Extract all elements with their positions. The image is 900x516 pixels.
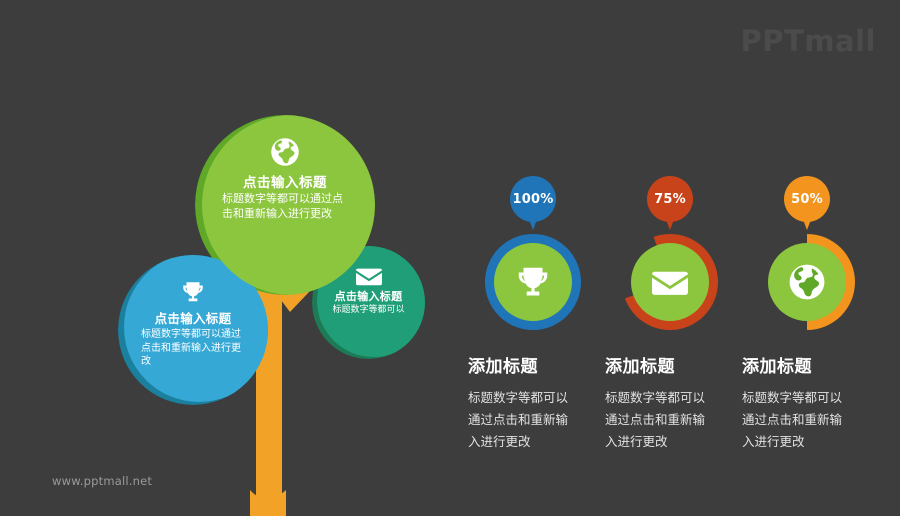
bubble-title: 点击输入标题 xyxy=(335,288,403,304)
icon-disc xyxy=(494,243,572,321)
stat-body: 标题数字等都可以通过点击和重新输入进行更改 xyxy=(605,387,717,453)
stat-column-3: 50% 添加标题 标题数字等都可以通过点击和重新输入进行更改 xyxy=(742,176,872,453)
mail-icon xyxy=(652,269,688,295)
progress-ring-wrap xyxy=(622,234,718,330)
percent-label: 100% xyxy=(510,176,556,222)
globe-icon xyxy=(270,137,300,167)
icon-disc xyxy=(768,243,846,321)
stat-title: 添加标题 xyxy=(742,352,872,377)
trophy-icon xyxy=(514,263,552,301)
tree-bubble-teal[interactable]: 点击输入标题 标题数字等都可以 xyxy=(312,246,425,359)
stat-body: 标题数字等都可以通过点击和重新输入进行更改 xyxy=(468,387,580,453)
progress-ring-wrap xyxy=(485,234,581,330)
stat-column-2: 75% 添加标题 标题数字等都可以通过点击和重新输入进行更改 xyxy=(605,176,735,453)
globe-icon xyxy=(788,263,826,301)
stat-column-1: 100% 添加标题 标题数字等都可以通过点击和重新输入进行更改 xyxy=(468,176,598,453)
stats-group: 100% 添加标题 标题数字等都可以通过点击和重新输入进行更改 75% xyxy=(460,176,880,476)
icon-disc xyxy=(631,243,709,321)
bubble-body: 标题数字等都可以通过点击和重新输入进行更改 xyxy=(141,328,245,369)
percent-pin: 75% xyxy=(647,176,693,232)
stat-title: 添加标题 xyxy=(468,352,598,377)
mail-icon xyxy=(356,266,382,286)
progress-ring-wrap xyxy=(759,234,855,330)
percent-pin: 100% xyxy=(510,176,556,232)
bubble-body: 标题数字等都可以通过点击和重新输入进行更改 xyxy=(222,192,348,222)
stat-body: 标题数字等都可以通过点击和重新输入进行更改 xyxy=(742,387,854,453)
percent-label: 75% xyxy=(647,176,693,222)
trophy-icon xyxy=(180,279,206,305)
bubble-title: 点击输入标题 xyxy=(243,171,327,191)
pptmall-logo: PPTmall xyxy=(741,24,876,58)
tree-bubble-blue[interactable]: 点击输入标题 标题数字等都可以通过点击和重新输入进行更改 xyxy=(118,255,268,405)
percent-pin: 50% xyxy=(784,176,830,232)
percent-label: 50% xyxy=(784,176,830,222)
stat-title: 添加标题 xyxy=(605,352,735,377)
bubble-title: 点击输入标题 xyxy=(155,308,232,327)
slide-canvas: PPTmall www.pptmall.net 点击输入标题 标题数字等都可以通… xyxy=(0,0,900,516)
bubble-body: 标题数字等都可以 xyxy=(324,305,414,317)
tree-diagram: 点击输入标题 标题数字等都可以通过点击和重新输入进行更改 点击输入标题 标题数字… xyxy=(100,100,440,516)
